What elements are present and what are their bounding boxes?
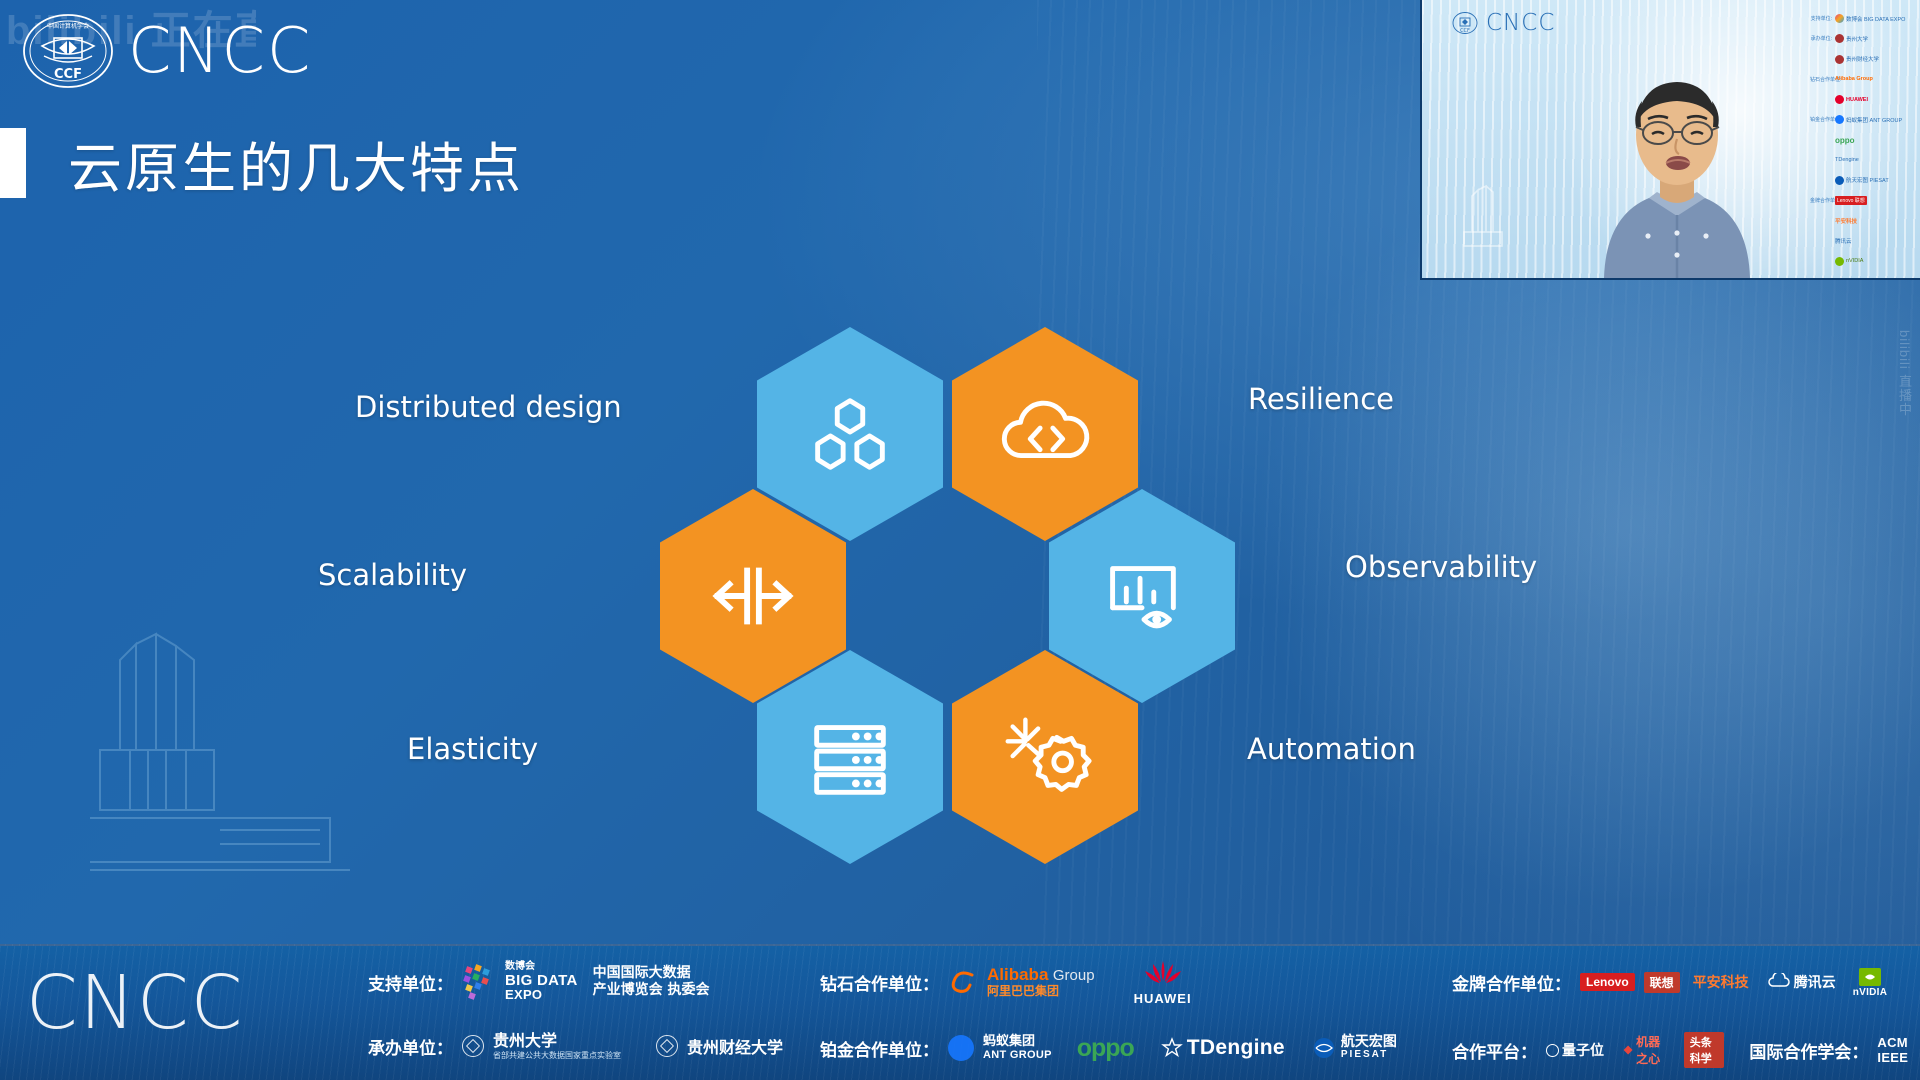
sponsor-text-alibaba: Alibaba Group <box>987 966 1095 985</box>
server-stack-icon <box>801 708 899 806</box>
sponsor-text-china-bigdata-sub: 产业博览会 执委会 <box>593 982 710 999</box>
webcam-speaker <box>1552 63 1802 278</box>
webcam-sponsor-row-gold-2: 平安科技 <box>1810 212 1914 229</box>
alibaba-logo-icon <box>948 969 978 995</box>
sponsor-logo-piesat: 航天宏图 PIESAT <box>1312 1035 1397 1060</box>
sponsor-logo-huawei: HUAWEI <box>1134 959 1192 1006</box>
sponsor-label-platform: 合作平台： <box>1452 1038 1537 1063</box>
webcam-bigdata-expo-icon <box>1835 14 1844 23</box>
webcam-sponsor-text-2b: HUAWEI <box>1846 97 1868 103</box>
sponsor-text-tencent-cloud: 腾讯云 <box>1794 972 1836 992</box>
sponsor-logo-bigdata-expo: 数博会 BIG DATA EXPO <box>505 962 578 1002</box>
webcam-sponsor-row-supporting: 支持单位: 数博会 BIG DATA EXPO <box>1810 10 1914 27</box>
webcam-sponsor-label-4: 金牌合作单位: <box>1810 197 1832 204</box>
sponsor-text-qbitai: 量子位 <box>1562 1040 1604 1060</box>
label-distributed-design: Distributed design <box>355 390 622 424</box>
webcam-sponsor-text-0: 数博会 BIG DATA EXPO <box>1846 15 1905 23</box>
sponsor-row-organizing: 承办单位： 贵州大学 省部共建公共大数据国家重点实验室 贵州财经大学 <box>368 1024 783 1068</box>
svg-text:CCF: CCF <box>1460 28 1470 34</box>
webcam-sponsor-row-gold-3: 腾讯云 <box>1810 233 1914 250</box>
sponsor-text-nvidia: nVIDIA <box>1853 987 1888 998</box>
sponsor-logo-tencent-cloud: 腾讯云 <box>1768 972 1836 992</box>
webcam-sponsor-text-2a: Alibaba Group <box>1835 76 1873 82</box>
webcam-sponsor-row-diamond: 钻石合作单位: Alibaba Group <box>1810 71 1914 88</box>
sponsor-label-platinum: 铂金合作单位： <box>820 1036 939 1061</box>
webcam-sponsor-text-4c: 腾讯云 <box>1835 237 1852 245</box>
sponsor-label-intl: 国际合作学会： <box>1749 1038 1868 1063</box>
sponsor-text-tdengine: TDengine <box>1187 1036 1285 1060</box>
webcam-sponsor-text-3d: 航天宏图 PIESAT <box>1846 176 1889 184</box>
webcam-sponsor-row-organizing: 承办单位: 贵州大学 <box>1810 30 1914 47</box>
sponsor-logo-tdengine: TDengine <box>1161 1036 1285 1060</box>
webcam-huawei-icon <box>1835 95 1844 104</box>
label-elasticity: Elasticity <box>407 732 538 766</box>
label-observability: Observability <box>1345 550 1537 584</box>
sponsor-row-supporting: 支持单位： 数博会 BIG DATA EXPO 中国国 <box>368 960 710 1004</box>
webcam-sponsor-label-0: 支持单位: <box>1810 15 1832 22</box>
webcam-sponsor-label-3: 铂金合作单位: <box>1810 116 1832 123</box>
guizhou-finance-univ-seal-icon <box>656 1035 678 1057</box>
webcam-cncc-text: CNCC <box>1486 10 1555 36</box>
hex-nodes-icon <box>801 385 899 483</box>
webcam-sponsor-row-gold-4: nVIDIA <box>1810 253 1914 270</box>
sponsor-text-lenovo: Lenovo <box>1580 973 1635 991</box>
webcam-sponsor-text-3b: oppo <box>1835 136 1855 145</box>
tencent-cloud-icon <box>1768 973 1790 991</box>
sponsor-text-guizhou-university: 贵州大学 <box>493 1032 621 1050</box>
sponsor-text-guizhou-finance-university: 贵州财经大学 <box>687 1034 783 1058</box>
sponsor-text-china-bigdata: 中国国际大数据 <box>593 965 710 982</box>
ant-group-logo-icon <box>948 1035 974 1061</box>
webcam-sponsor-text-3c: TDengine <box>1835 157 1859 163</box>
resize-arrows-icon <box>704 547 802 645</box>
webcam-cncc-brand: CCF CNCC <box>1452 10 1555 36</box>
sponsor-text-pingan: 平安科技 <box>1693 972 1749 992</box>
tdengine-star-icon <box>1161 1037 1183 1059</box>
sponsor-text-toutiao-science: 头条科学 <box>1684 1032 1725 1068</box>
webcam-sponsor-text-4d: nVIDIA <box>1846 258 1863 264</box>
sponsor-logo-nvidia: nVIDIA <box>1853 967 1888 998</box>
sponsor-text-guizhou-lab: 省部共建公共大数据国家重点实验室 <box>493 1051 621 1060</box>
sponsor-logo-qbitai: 量子位 <box>1546 1040 1604 1060</box>
label-resilience: Resilience <box>1248 382 1394 416</box>
sponsor-bar: CNCC 支持单位： 数博会 BIG DATA EXPO <box>0 944 1920 1080</box>
webcam-ccf-logo-icon: CCF <box>1452 11 1478 35</box>
guizhou-univ-seal-icon <box>462 1035 484 1057</box>
sponsor-text-alibaba-cn: 阿里巴巴集团 <box>987 985 1095 998</box>
sponsor-text-oppo: oppo <box>1077 1034 1134 1063</box>
sponsor-text-acm-ieee: ACM IEEE <box>1877 1035 1920 1065</box>
qbitai-circle-icon <box>1546 1044 1559 1057</box>
piesat-globe-icon <box>1312 1036 1336 1060</box>
sponsor-label-diamond: 钻石合作单位： <box>820 970 939 995</box>
jiqizhixin-icon <box>1623 1042 1633 1058</box>
sponsor-row-platform: 合作平台： 量子位 机器之心 头条科学 国际合作学会： ACM IEEE <box>1452 1028 1920 1072</box>
webcam-sponsor-row-platinum-2: oppo <box>1810 131 1914 148</box>
sponsor-text-piesat-en: PIESAT <box>1341 1050 1397 1061</box>
cloud-code-icon <box>996 385 1094 483</box>
nvidia-eye-icon <box>1858 967 1882 987</box>
sponsor-row-diamond: 钻石合作单位： Alibaba Group 阿里巴巴集团 HUAWEI <box>820 960 1192 1004</box>
webcam-sponsor-text-4b: 平安科技 <box>1835 217 1857 225</box>
sponsor-label-supporting: 支持单位： <box>368 970 453 995</box>
webcam-sponsor-strip: 支持单位: 数博会 BIG DATA EXPO 承办单位: 贵州大学 贵州财经大… <box>1810 10 1914 270</box>
webcam-sponsor-text-3a: 蚂蚁集团 ANT GROUP <box>1846 116 1902 124</box>
bigdata-expo-logo-icon <box>462 964 496 1000</box>
chart-eye-icon <box>1093 547 1191 645</box>
webcam-sponsor-text-4a: Lenovo 联想 <box>1835 196 1867 205</box>
webcam-sponsor-text-1a: 贵州大学 <box>1846 35 1868 43</box>
webcam-sponsor-row-diamond-2: HUAWEI <box>1810 91 1914 108</box>
label-automation: Automation <box>1247 732 1416 766</box>
webcam-sponsor-row-gold: 金牌合作单位: Lenovo 联想 <box>1810 192 1914 209</box>
sponsor-logo-jiqizhixin: 机器之心 <box>1623 1033 1667 1067</box>
webcam-sponsor-row-organizing-2: 贵州财经大学 <box>1810 50 1914 67</box>
sponsor-text-lenovo-cn: 联想 <box>1644 972 1680 993</box>
webcam-sponsor-row-platinum-3: TDengine <box>1810 152 1914 169</box>
sponsor-text-ant-cn: 蚂蚁集团 <box>983 1035 1052 1049</box>
webcam-sponsor-label-2: 钻石合作单位: <box>1810 76 1832 83</box>
webcam-sponsor-label-1: 承办单位: <box>1810 35 1832 42</box>
huawei-flower-icon <box>1139 959 1187 991</box>
webcam-overlay[interactable]: CCF CNCC <box>1420 0 1920 280</box>
sponsor-text-piesat-cn: 航天宏图 <box>1341 1035 1397 1050</box>
label-scalability: Scalability <box>318 558 467 592</box>
sponsor-label-organizing: 承办单位： <box>368 1034 453 1059</box>
webcam-sponsor-row-platinum-4: 航天宏图 PIESAT <box>1810 172 1914 189</box>
sponsor-logo-china-bigdata-expo: 中国国际大数据 产业博览会 执委会 <box>587 965 710 999</box>
sponsor-label-gold: 金牌合作单位： <box>1452 970 1571 995</box>
sponsor-text-jiqizhixin: 机器之心 <box>1636 1033 1667 1067</box>
sponsor-row-gold: 金牌合作单位： Lenovo 联想 平安科技 腾讯云 nVIDIA <box>1452 960 1887 1004</box>
sponsor-row-platinum: 铂金合作单位： 蚂蚁集团 ANT GROUP oppo TDengine 航天宏… <box>820 1026 1397 1070</box>
gear-spark-icon <box>996 708 1094 806</box>
webcam-sponsor-text-1b: 贵州财经大学 <box>1846 55 1879 63</box>
sponsor-bar-brand: CNCC <box>26 960 244 1046</box>
sponsor-text-ant-en: ANT GROUP <box>983 1049 1052 1061</box>
sponsor-text-huawei: HUAWEI <box>1134 991 1192 1006</box>
webcam-tower-decoration <box>1460 178 1506 252</box>
webcam-sponsor-row-platinum: 铂金合作单位: 蚂蚁集团 ANT GROUP <box>1810 111 1914 128</box>
